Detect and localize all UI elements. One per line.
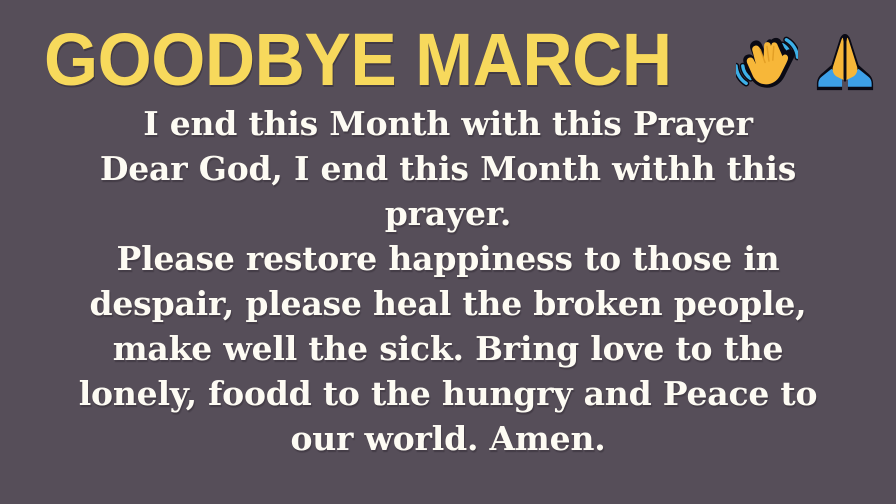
prayer-line: I end this Month with this Prayer [68, 101, 828, 146]
waving-hand-icon [736, 32, 798, 94]
prayer-line: Dear God, I end this Month withh this [68, 146, 828, 191]
poster-canvas: GOODBYE MARCH [0, 0, 896, 504]
prayer-line: prayer. [68, 191, 828, 236]
page-title: GOODBYE MARCH [44, 23, 672, 97]
headline-row: GOODBYE MARCH [44, 14, 876, 106]
prayer-line: make well the sick. Bring love to the [68, 326, 828, 371]
prayer-line: lonely, foodd to the hungry and Peace to [68, 371, 828, 416]
prayer-line: despair, please heal the broken people, [68, 281, 828, 326]
prayer-line: our world. Amen. [68, 416, 828, 461]
folded-hands-icon [814, 32, 876, 94]
prayer-line: Please restore happiness to those in [68, 236, 828, 281]
prayer-text-block: I end this Month with this Prayer Dear G… [68, 101, 828, 461]
